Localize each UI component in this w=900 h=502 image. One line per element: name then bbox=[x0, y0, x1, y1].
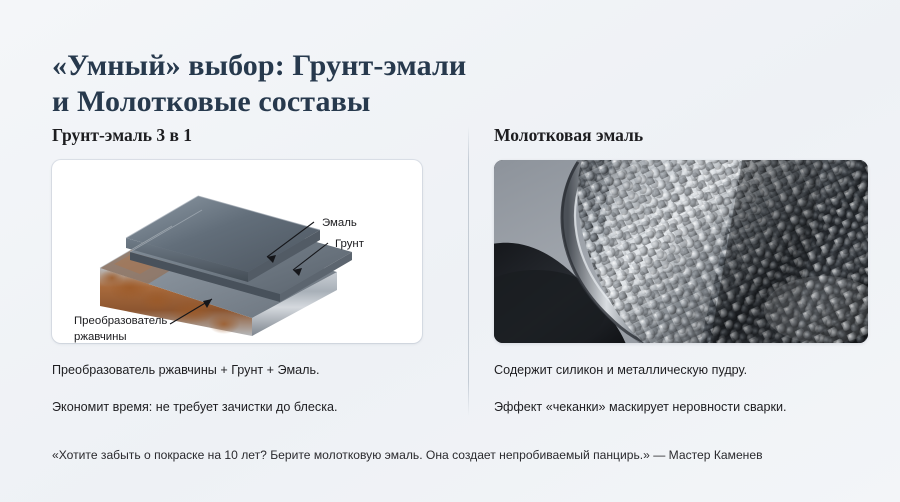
right-bullet-list: Содержит силикон и металлическую пудру. … bbox=[494, 362, 870, 416]
slide-root: «Умный» выбор: Грунт-эмали и Молотковые … bbox=[0, 0, 900, 502]
left-bullet-1: Преобразователь ржавчины + Грунт + Эмаль… bbox=[52, 362, 424, 379]
left-column-heading: Грунт-эмаль 3 в 1 bbox=[52, 124, 424, 146]
diagram-label-converter-line1: Преобразователь bbox=[74, 315, 167, 327]
diagram-label-primer: Грунт bbox=[335, 238, 365, 250]
diagram-label-enamel: Эмаль bbox=[322, 217, 357, 229]
primer-enamel-diagram-card: Эмаль Грунт Преобразователь ржавчины bbox=[52, 160, 422, 343]
page-title-line-2: и Молотковые составы bbox=[52, 84, 772, 120]
right-column-heading: Молотковая эмаль bbox=[494, 124, 870, 146]
right-bullet-1: Содержит силикон и металлическую пудру. bbox=[494, 362, 870, 379]
right-bullet-2: Эффект «чеканки» маскирует неровности св… bbox=[494, 399, 870, 416]
layered-coating-diagram: Эмаль Грунт Преобразователь ржавчины bbox=[52, 160, 422, 343]
diagram-label-converter-line2: ржавчины bbox=[74, 331, 127, 343]
right-column: Молотковая эмаль bbox=[494, 124, 870, 416]
left-column: Грунт-эмаль 3 в 1 bbox=[52, 124, 424, 416]
left-bullet-2: Экономит время: не требует зачистки до б… bbox=[52, 399, 424, 416]
left-bullet-list: Преобразователь ржавчины + Грунт + Эмаль… bbox=[52, 362, 424, 416]
hammered-enamel-photo bbox=[494, 160, 868, 343]
footer-quote: «Хотите забыть о покраске на 10 лет? Бер… bbox=[52, 447, 872, 464]
page-title-line-1: «Умный» выбор: Грунт-эмали bbox=[52, 48, 772, 84]
column-divider bbox=[468, 126, 469, 416]
page-title: «Умный» выбор: Грунт-эмали и Молотковые … bbox=[52, 48, 772, 120]
